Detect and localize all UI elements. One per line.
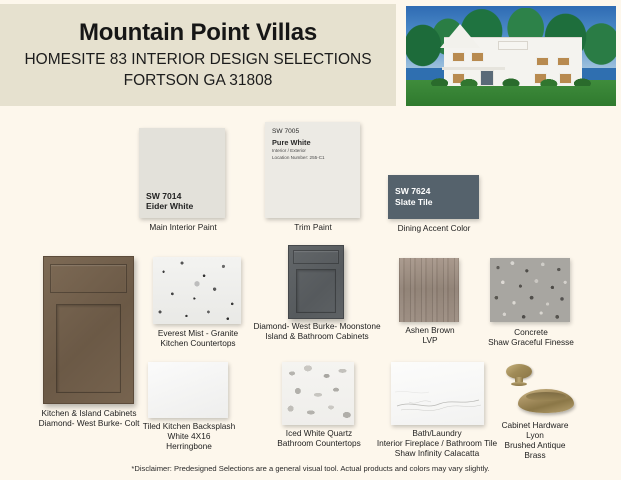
caption-bathroom-quartz: Iced White Quartz Bathroom Countertops [270,428,368,448]
caption-kitchen-backsplash: Tiled Kitchen Backsplash White 4X16 Herr… [137,421,241,451]
paint-code-eider: SW 7014 [146,191,181,201]
material-sample-lvp-flooring[interactable] [399,258,459,322]
material-sample-kitchen-island-cabinets[interactable] [43,256,134,404]
design-selections-board: Mountain Point Villas HOMESITE 83 INTERI… [0,0,621,480]
paint-code-slate: SW 7624 [395,186,430,196]
material-sample-moonstone-cabinets[interactable] [288,245,344,319]
paint-swatch-eider-white[interactable]: SW 7014Eider White [139,128,225,218]
header-banner: Mountain Point Villas HOMESITE 83 INTERI… [0,4,396,106]
caption-cabinet-hardware: Cabinet Hardware Lyon Brushed Antique Br… [487,420,583,460]
material-sample-carpet[interactable] [490,258,570,322]
caption-lvp-flooring: Ashen Brown LVP [389,325,471,345]
caption-moonstone-cabinets: Diamond- West Burke- Moonstone Island & … [249,321,385,341]
caption-granite-countertop: Everest Mist - Granite Kitchen Counterto… [146,328,250,348]
window [557,57,570,66]
paint-swatch-slate-tile[interactable]: SW 7624Slate Tile [388,175,479,219]
caption-bath-laundry-tile: Bath/Laundry Interior Fireplace / Bathro… [370,428,504,458]
door-panel [56,304,122,393]
paint-name-pure: Pure White [272,137,325,148]
disclaimer-text: *Disclaimer: Predesigned Selections are … [0,464,621,473]
cabinet-cup-pull-icon [518,389,574,413]
material-sample-bathroom-quartz[interactable] [282,362,354,425]
drawer-front [293,250,339,264]
window [536,57,549,66]
material-sample-cabinet-hardware[interactable] [492,362,578,418]
caption-kitchen-island-cabinets: Kitchen & Island Cabinets Diamond- West … [22,408,156,428]
paint-use-pure: Interior / Exterior [272,148,325,155]
window [471,52,484,62]
exterior-rendering-image [406,6,616,106]
paint-swatch-pure-white[interactable]: SW 7005 Pure White Interior / Exterior L… [265,122,360,218]
porch-roof [442,67,505,70]
cup-pull-inner [526,392,566,401]
cabinet-knob-base [511,382,527,386]
caption-carpet: Concrete Shaw Graceful Finesse [483,327,579,347]
material-sample-granite-countertop[interactable] [153,257,241,324]
shrubs [406,72,616,86]
door-panel [296,269,336,313]
material-sample-kitchen-backsplash[interactable] [148,362,228,418]
caption-dining-accent: Dining Accent Color [383,223,485,233]
page-subtitle-homesite: HOMESITE 83 INTERIOR DESIGN SELECTIONS [24,51,371,70]
drawer-front [50,264,127,293]
page-subtitle-location: FORTSON GA 31808 [124,72,273,91]
paint-location-pure: Location Number: 255-C1 [272,155,325,162]
caption-trim-paint: Trim Paint [263,222,363,232]
caption-main-interior-paint: Main Interior Paint [133,222,233,232]
page-title: Mountain Point Villas [79,20,317,46]
window [452,52,465,62]
paint-name-eider: Eider White [146,201,193,211]
paint-code-pure: SW 7005 [272,128,325,137]
marble-veining [391,362,484,425]
dormer [498,41,527,50]
paint-name-slate: Slate Tile [395,197,433,207]
material-sample-bath-laundry-tile[interactable] [391,362,484,425]
roof-gable-left [440,24,480,48]
